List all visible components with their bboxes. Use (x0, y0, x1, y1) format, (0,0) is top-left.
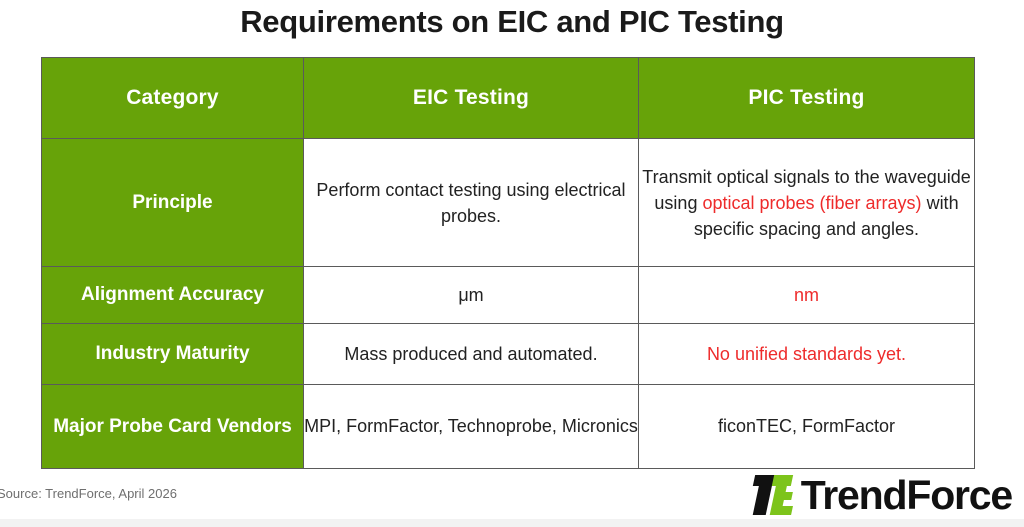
row-label-principle: Principle (42, 139, 304, 267)
row-label-alignment-accuracy: Alignment Accuracy (42, 267, 304, 324)
cell-vendors-eic: MPI, FormFactor, Technoprobe, Micronics (304, 385, 639, 469)
table-row-major-probe-card-vendors: Major Probe Card Vendors MPI, FormFactor… (42, 385, 975, 469)
row-label-major-probe-card-vendors: Major Probe Card Vendors (42, 385, 304, 469)
table-header-row: Category EIC Testing PIC Testing (42, 58, 975, 139)
header-cell-eic-testing: EIC Testing (304, 58, 639, 139)
table-row-industry-maturity: Industry Maturity Mass produced and auto… (42, 324, 975, 385)
eic-pic-comparison-table: Category EIC Testing PIC Testing Princip… (41, 57, 975, 469)
trendforce-logo: TrendForce (751, 472, 1012, 518)
header-cell-category: Category (42, 58, 304, 139)
trendforce-logo-text: TrendForce (801, 474, 1012, 516)
bottom-shade-band (0, 519, 1024, 527)
row-label-industry-maturity: Industry Maturity (42, 324, 304, 385)
cell-principle-eic: Perform contact testing using electrical… (304, 139, 639, 267)
cell-maturity-eic: Mass produced and automated. (304, 324, 639, 385)
header-cell-pic-testing: PIC Testing (639, 58, 975, 139)
cell-alignment-pic: nm (639, 267, 975, 324)
source-note: Source: TrendForce, April 2026 (0, 486, 177, 501)
table-row-alignment-accuracy: Alignment Accuracy μm nm (42, 267, 975, 324)
trendforce-logo-mark-icon (751, 474, 795, 516)
page-title: Requirements on EIC and PIC Testing (0, 2, 1024, 42)
table-row-principle: Principle Perform contact testing using … (42, 139, 975, 267)
cell-maturity-pic: No unified standards yet. (639, 324, 975, 385)
cell-principle-pic-highlight: optical probes (fiber arrays) (702, 193, 921, 213)
cell-alignment-eic: μm (304, 267, 639, 324)
cell-vendors-pic: ficonTEC, FormFactor (639, 385, 975, 469)
cell-principle-pic: Transmit optical signals to the waveguid… (639, 139, 975, 267)
